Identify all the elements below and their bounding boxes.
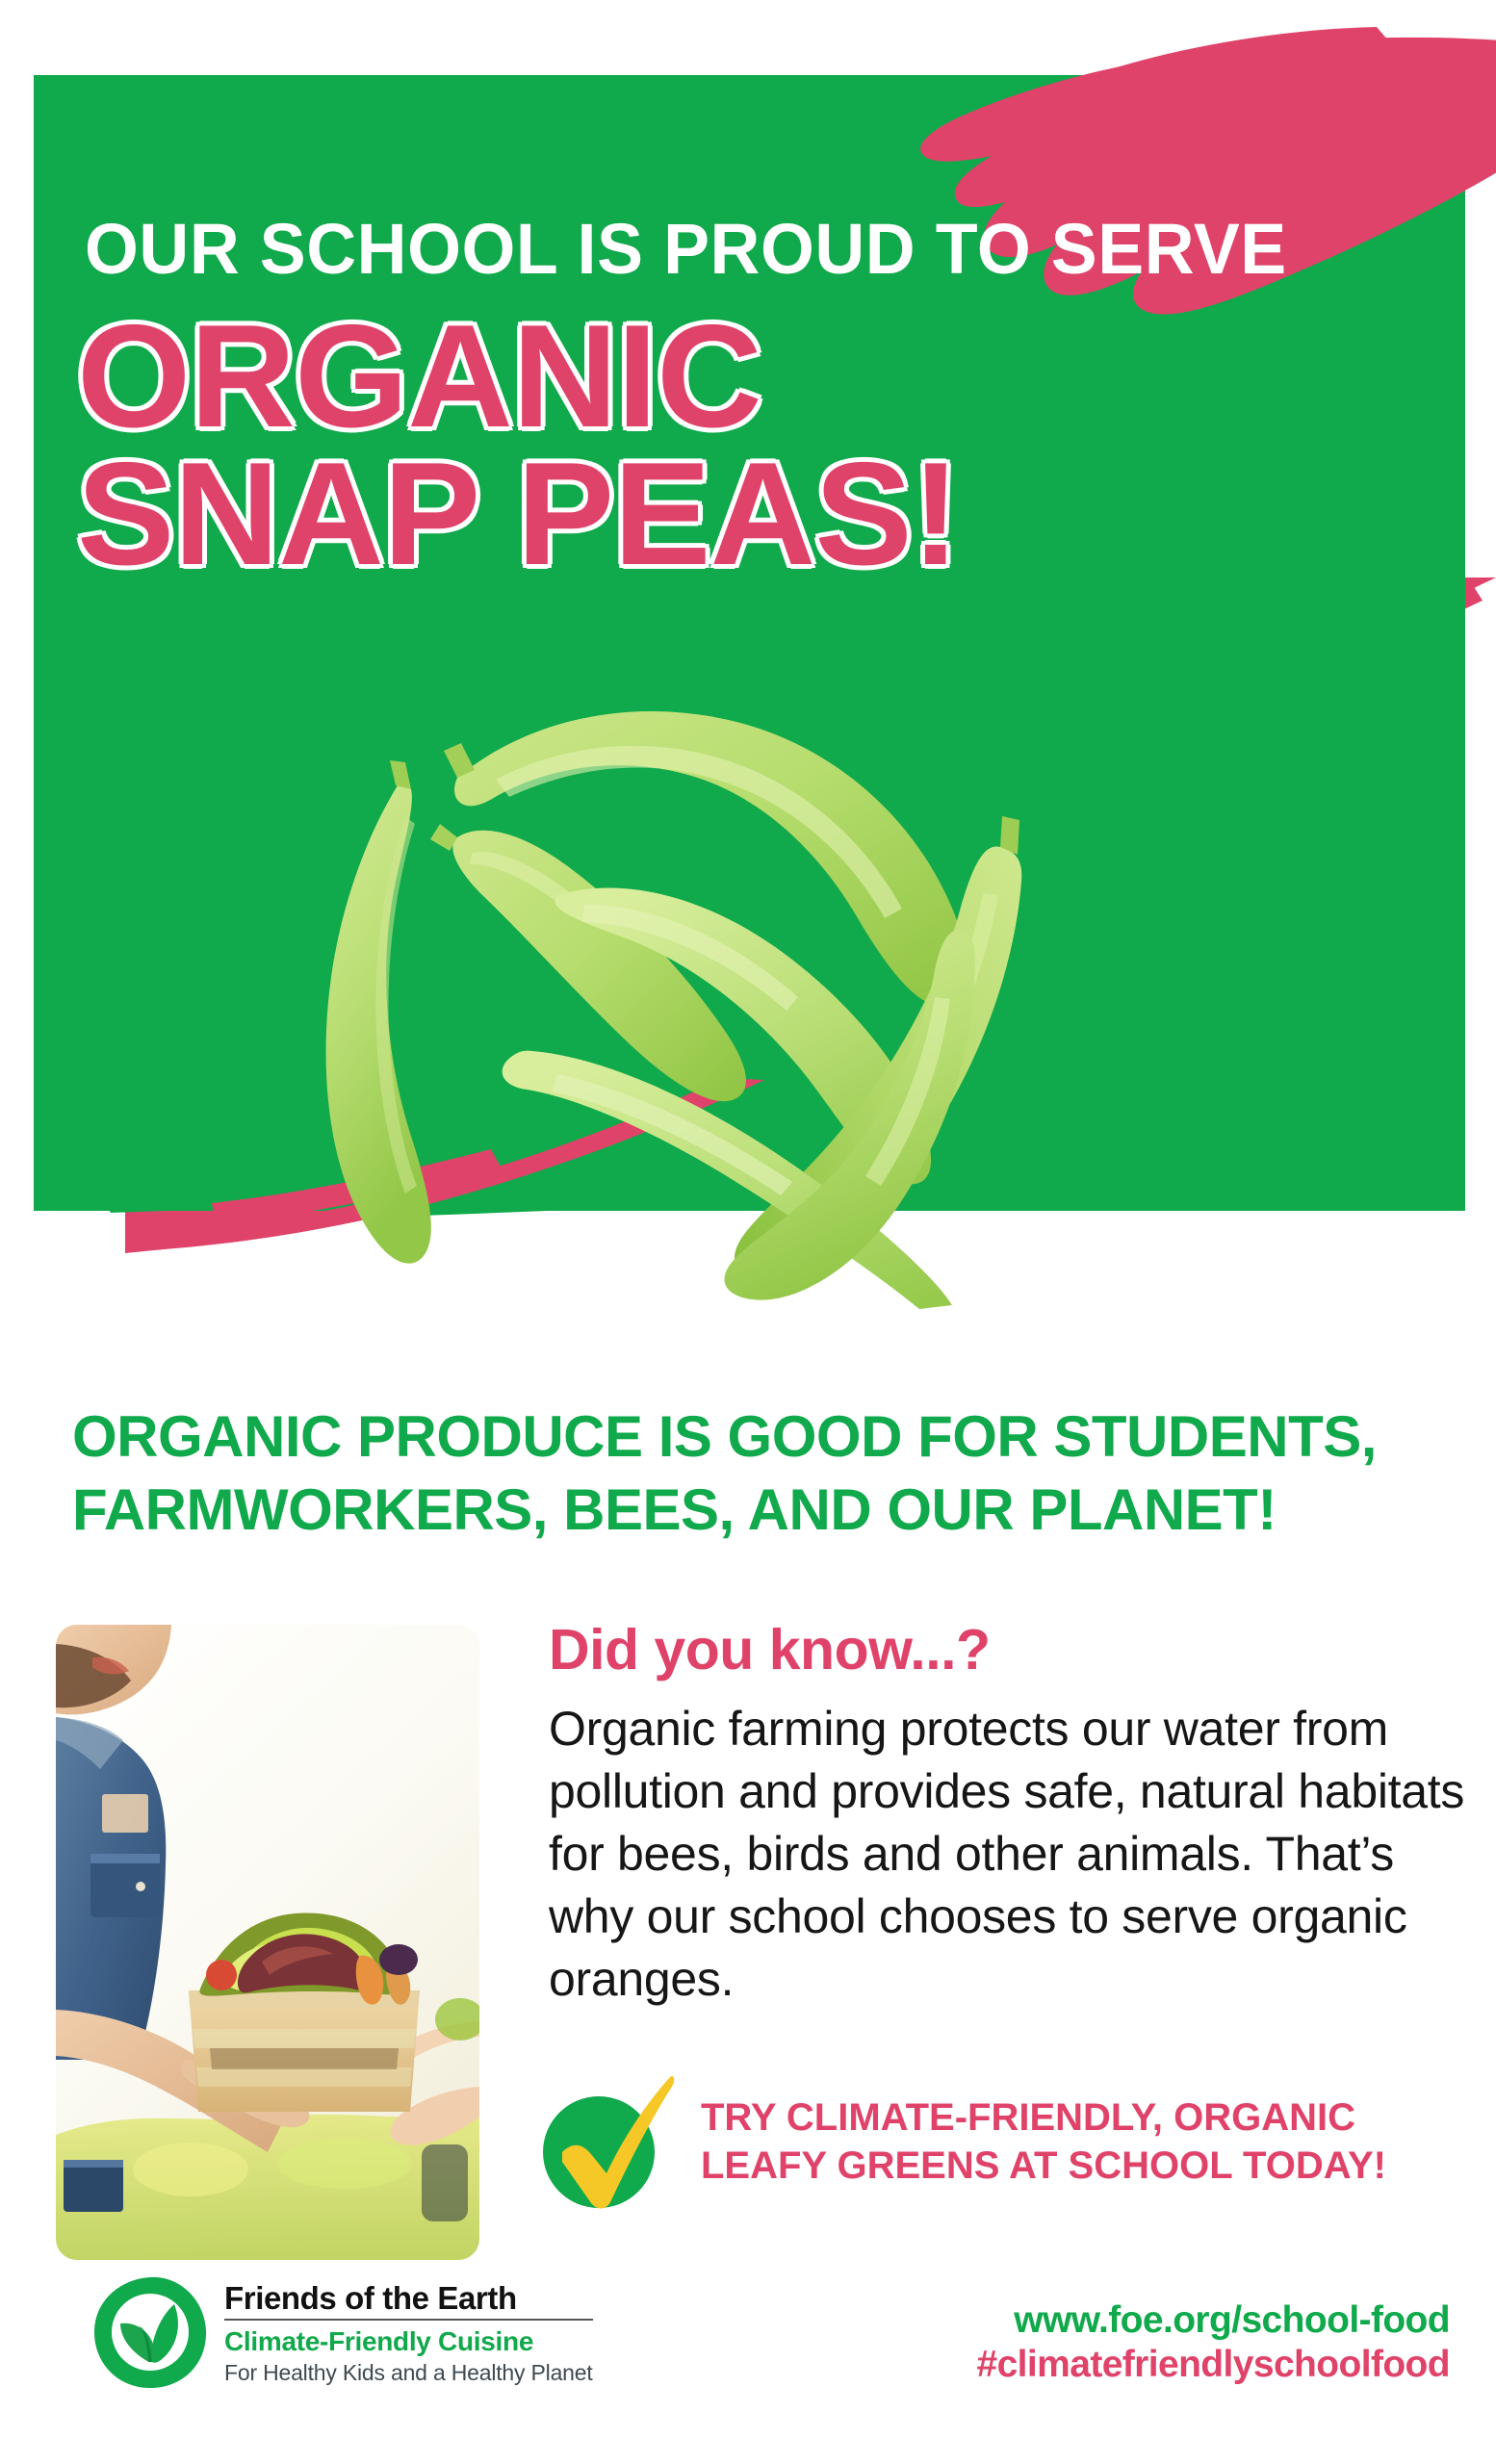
- snap-peas-photo: [168, 616, 1227, 1309]
- hero-title-line-2: SNAP PEAS!: [77, 446, 1425, 583]
- friends-of-the-earth-leaf-logo-icon: [91, 2273, 209, 2391]
- poster-root: OUR SCHOOL IS PROUD TO SERVE ORGANIC SNA…: [0, 0, 1496, 2464]
- call-to-action: TRY CLIMATE-FRIENDLY, ORGANIC LEAFY GREE…: [539, 2069, 1483, 2214]
- snap-pea-pod: [326, 760, 431, 1264]
- footer-links: www.foe.org/school-food #climatefriendly…: [977, 2298, 1451, 2387]
- did-you-know-body: Organic farming protects our water from …: [549, 1698, 1473, 2011]
- hashtag-text: #climatefriendlyschoolfood: [977, 2343, 1451, 2387]
- foe-logo-text: Friends of the Earth Climate-Friendly Cu…: [224, 2277, 593, 2386]
- farmer-photo: [56, 1625, 479, 2260]
- green-check-badge-icon: [539, 2069, 676, 2214]
- did-you-know-block: Did you know...? Organic farming protect…: [549, 1621, 1473, 2011]
- website-url-link[interactable]: www.foe.org/school-food: [977, 2298, 1451, 2343]
- foe-tagline: For Healthy Kids and a Healthy Planet: [224, 2359, 593, 2387]
- subheadline: ORGANIC PRODUCE IS GOOD FOR STUDENTS, FA…: [72, 1400, 1439, 1546]
- hero-kicker: OUR SCHOOL IS PROUD TO SERVE: [85, 214, 1374, 285]
- hero-section: OUR SCHOOL IS PROUD TO SERVE ORGANIC SNA…: [0, 0, 1496, 1376]
- foe-org-name: Friends of the Earth: [224, 2281, 593, 2321]
- foe-logo-lockup: Friends of the Earth Climate-Friendly Cu…: [91, 2273, 593, 2391]
- did-you-know-heading: Did you know...?: [549, 1621, 1473, 1681]
- cta-text: TRY CLIMATE-FRIENDLY, ORGANIC LEAFY GREE…: [701, 2093, 1386, 2191]
- hero-title-line-1: ORGANIC: [77, 308, 1425, 446]
- hero-title: ORGANIC SNAP PEAS!: [77, 308, 1425, 583]
- cta-line-1: TRY CLIMATE-FRIENDLY, ORGANIC: [701, 2093, 1386, 2142]
- cta-line-2: LEAFY GREENS AT SCHOOL TODAY!: [701, 2142, 1386, 2190]
- subheadline-line-2: FARMWORKERS, BEES, AND OUR PLANET!: [72, 1474, 1439, 1547]
- subheadline-line-1: ORGANIC PRODUCE IS GOOD FOR STUDENTS,: [72, 1400, 1439, 1474]
- foe-program-name: Climate-Friendly Cuisine: [224, 2324, 593, 2358]
